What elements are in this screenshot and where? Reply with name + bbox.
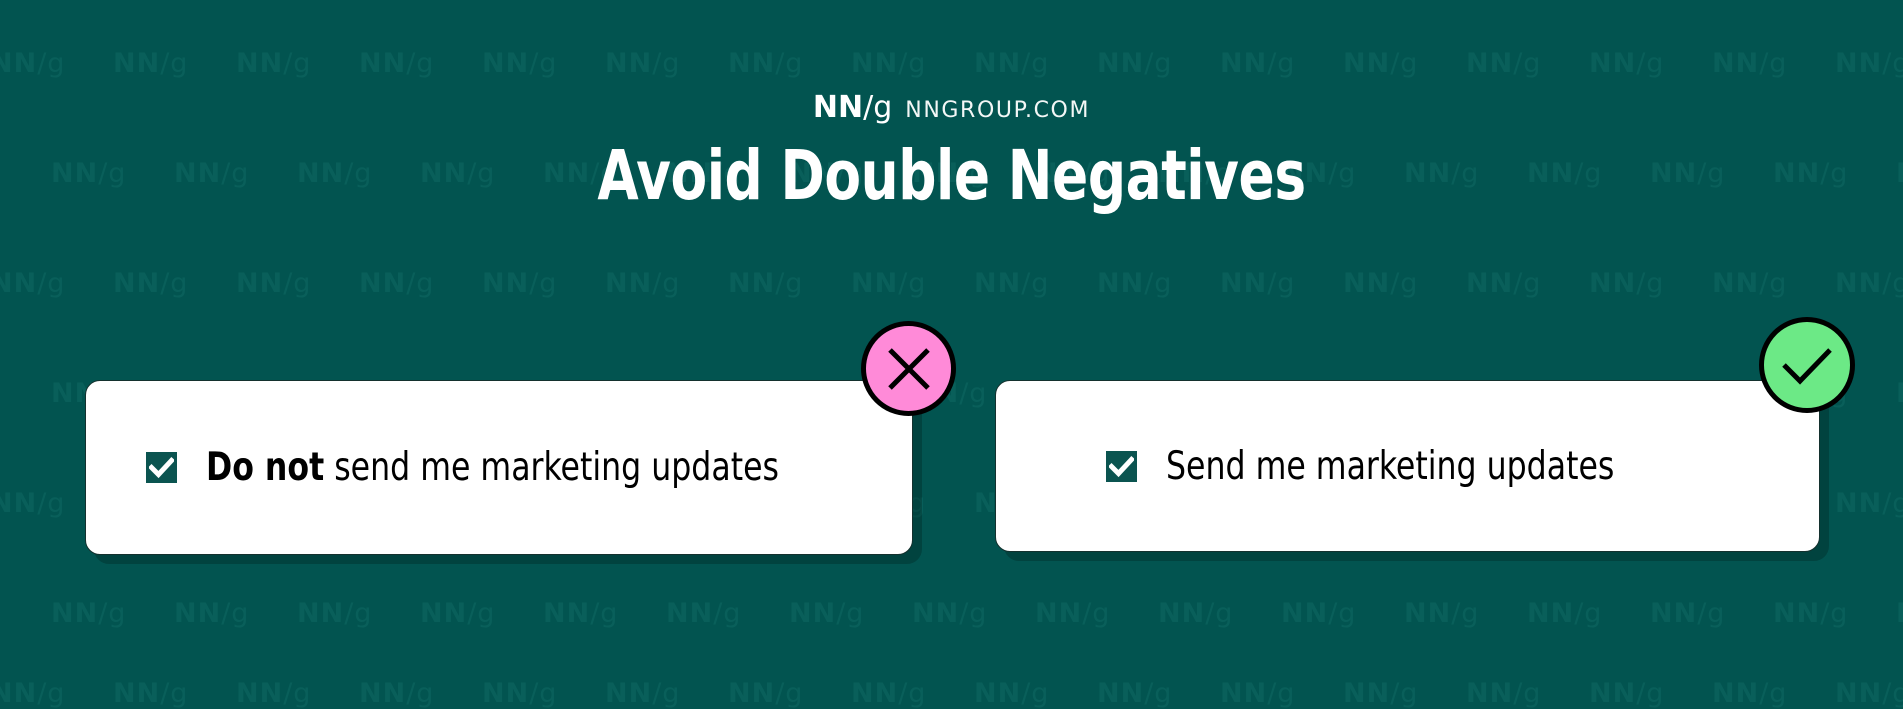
option-label-emphasis: Do not [206,445,324,490]
watermark-mark: NN/g [236,268,359,299]
watermark-mark: NN/g [1466,268,1589,299]
watermark-mark: NN/g [1896,598,1903,629]
watermark-mark: NN/g [420,598,543,629]
watermark-mark: NN/g [1773,598,1896,629]
watermark-mark: NN/g [789,598,912,629]
close-icon [861,321,956,416]
option-label-rest: Send me marketing updates [1166,444,1614,489]
page-title: Avoid Double Negatives [133,140,1770,212]
nng-logo: NN/g [813,93,892,123]
watermark-mark: NN/g [1343,268,1466,299]
watermark-mark: NN/g [1589,268,1712,299]
watermark-mark: NN/g [0,378,51,409]
watermark-mark: NN/g [174,598,297,629]
watermark-mark: NN/g [1220,268,1343,299]
check-icon [1759,317,1855,413]
watermark-mark: NN/g [482,678,605,709]
example-card-correct[interactable]: Send me marketing updates [995,380,1820,552]
watermark-mark: NN/g [1158,598,1281,629]
watermark-mark: NN/g [1589,678,1712,709]
slide-canvas: NN/gNN/gNN/gNN/gNN/gNN/gNN/gNN/gNN/gNN/g… [0,0,1903,709]
option-label-correct: Send me marketing updates [1166,444,1614,489]
watermark-mark: NN/g [728,268,851,299]
watermark-mark: NN/g [605,678,728,709]
watermark-mark: NN/g [1896,378,1903,409]
watermark-mark: NN/g [1404,598,1527,629]
watermark-mark: NN/g [359,678,482,709]
logo-slash-g: /g [863,90,892,125]
watermark-mark: NN/g [359,268,482,299]
watermark-mark: NN/g [1097,268,1220,299]
watermark-row: NN/gNN/gNN/gNN/gNN/gNN/gNN/gNN/gNN/gNN/g… [0,678,1903,709]
checkbox-option-row[interactable]: Do not send me marketing updates [86,445,912,490]
checkbox-checked-icon[interactable] [146,452,177,483]
watermark-mark: NN/g [1281,598,1404,629]
watermark-mark: NN/g [1527,598,1650,629]
watermark-mark: NN/g [1097,678,1220,709]
watermark-mark: NN/g [0,678,113,709]
watermark-mark: NN/g [482,268,605,299]
watermark-mark: NN/g [1343,678,1466,709]
example-card-incorrect[interactable]: Do not send me marketing updates [85,380,913,555]
watermark-mark: NN/g [543,598,666,629]
watermark-mark: NN/g [51,598,174,629]
watermark-mark: NN/g [1650,598,1773,629]
watermark-mark: NN/g [1835,488,1903,519]
option-label-rest: send me marketing updates [324,445,779,490]
watermark-mark: NN/g [297,598,420,629]
watermark-mark: NN/g [912,598,1035,629]
logo-nn: NN [813,90,863,125]
header: NN/g NNGROUP.COM Avoid Double Negatives [0,0,1903,212]
watermark-mark: NN/g [1466,678,1589,709]
watermark-mark: NN/g [1035,598,1158,629]
checkbox-checked-icon[interactable] [1106,451,1137,482]
watermark-mark: NN/g [605,268,728,299]
watermark-mark: NN/g [728,678,851,709]
watermark-mark: NN/g [1712,268,1835,299]
watermark-row: NN/gNN/gNN/gNN/gNN/gNN/gNN/gNN/gNN/gNN/g… [0,268,1903,299]
watermark-row: NN/gNN/gNN/gNN/gNN/gNN/gNN/gNN/gNN/gNN/g… [0,598,1903,629]
watermark-mark: NN/g [113,268,236,299]
watermark-mark: NN/g [1835,678,1903,709]
watermark-mark: NN/g [974,678,1097,709]
watermark-mark: NN/g [236,678,359,709]
checkbox-option-row[interactable]: Send me marketing updates [996,444,1819,489]
brand-lockup: NN/g NNGROUP.COM [0,93,1903,123]
watermark-mark: NN/g [974,268,1097,299]
option-label-incorrect: Do not send me marketing updates [206,445,779,490]
watermark-mark: NN/g [851,268,974,299]
watermark-mark: NN/g [666,598,789,629]
watermark-mark: NN/g [1220,678,1343,709]
watermark-mark: NN/g [0,268,113,299]
watermark-mark: NN/g [113,678,236,709]
watermark-mark: NN/g [1712,678,1835,709]
watermark-mark: NN/g [1835,268,1903,299]
watermark-mark: NN/g [0,598,51,629]
watermark-mark: NN/g [851,678,974,709]
brand-domain: NNGROUP.COM [905,100,1090,122]
